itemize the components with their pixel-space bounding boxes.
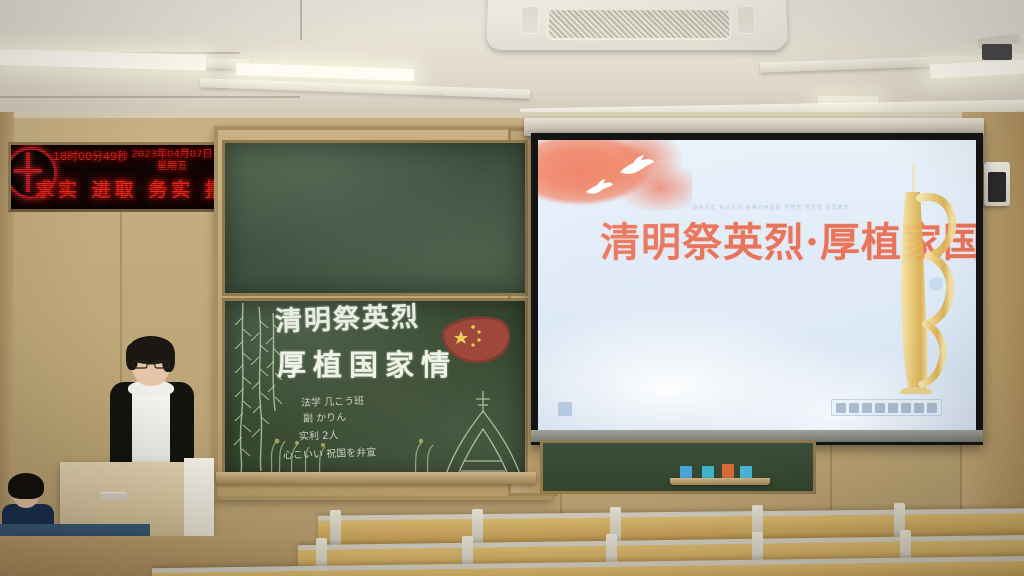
lectern-nameplate: [100, 492, 126, 500]
next-icon[interactable]: [862, 403, 872, 413]
ac-vent: [521, 6, 540, 34]
screen-ledge: [670, 478, 770, 485]
china-flag-chalk-drawing: [439, 311, 515, 371]
ledge-book: [722, 464, 734, 478]
play-icon[interactable]: [836, 403, 846, 413]
grass-chalk-drawing: [265, 425, 445, 477]
lectern-side-panel: [184, 458, 214, 542]
ceiling-light-small: [818, 96, 878, 104]
slide-subtitle: 缅怀历史 铭记先烈 赓续红色血脉 学党史 悟思想 强国教育: [656, 204, 886, 212]
golden-bugle-icon: [880, 164, 970, 394]
blackboard-lower-panel: 清明祭英烈 厚植国家情 法学 几こう班 副 かりん 实利 2人 心こいい 祝国を…: [222, 298, 528, 480]
lecture-hall-photo: 18时00分49秒 2023年04月07日 星期五 求实 进取 务实 报国 清明…: [0, 0, 1024, 576]
grid-icon[interactable]: [901, 403, 911, 413]
ac-grille: [546, 8, 731, 40]
led-time: 18时00分49秒: [53, 151, 128, 163]
pointer-icon[interactable]: [888, 403, 898, 413]
ceiling-air-conditioner: [486, 0, 789, 50]
chalk-tray: [216, 472, 536, 484]
blackboard-note: 法学 几こう班: [301, 396, 365, 410]
glasses-icon: [132, 360, 170, 369]
seat-divider: [330, 510, 341, 546]
blackboard-note: 副 かりん: [303, 412, 347, 425]
blackboard-upper-panel: [222, 140, 528, 296]
student-hair: [8, 473, 44, 499]
projector-body: [982, 44, 1012, 60]
wall-mounted-speaker: [984, 162, 1010, 206]
notes-icon[interactable]: [914, 403, 924, 413]
projection-screen[interactable]: 缅怀历史 铭记先烈 赓续红色血脉 学党史 悟思想 强国教育 清明祭英烈·厚植家国…: [538, 140, 976, 430]
slide-logo-icon: [558, 402, 572, 416]
mountain-monument-chalk-drawing: [435, 391, 528, 477]
dove-icon: [584, 178, 614, 198]
slide-title: 清明祭英烈·厚植家国情: [600, 220, 920, 266]
chalk-dust: [225, 143, 525, 293]
more-icon[interactable]: [927, 403, 937, 413]
blackboard-title-line1: 清明祭英烈: [275, 302, 421, 337]
dove-icon: [616, 154, 656, 180]
presentation-toolbar[interactable]: [831, 399, 942, 416]
ceiling-seam: [0, 96, 300, 98]
blackboard-right-panel: [540, 440, 816, 494]
student-presenter: [104, 336, 200, 466]
blackboard-title-line2: 厚植国家情: [277, 349, 457, 381]
led-slogan: 求实 进取 务实 报国: [35, 177, 217, 203]
led-scrolling-sign: 18时00分49秒 2023年04月07日 星期五 求实 进取 务实 报国: [8, 142, 220, 212]
led-weekday: 星期五: [128, 161, 216, 172]
ceiling-seam: [300, 0, 302, 40]
red-ink-wash: [538, 140, 692, 210]
seat-divider: [472, 509, 483, 545]
led-date: 2023年04月07日: [128, 149, 216, 161]
pen-icon[interactable]: [875, 403, 885, 413]
prev-icon[interactable]: [849, 403, 859, 413]
ac-vent: [736, 6, 755, 34]
